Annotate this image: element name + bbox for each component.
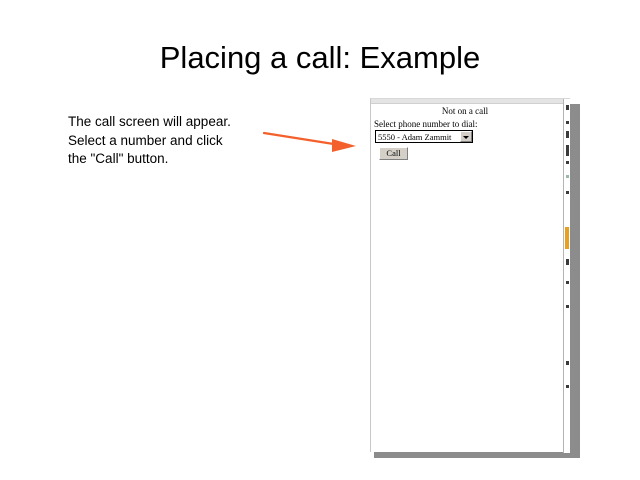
body-text-block: The call screen will appear. Select a nu…	[68, 113, 268, 169]
call-button[interactable]: Call	[379, 147, 408, 160]
slide-canvas: Placing a call: Example The call screen …	[0, 0, 640, 480]
strip-artifact	[566, 161, 569, 164]
strip-accent-artifact	[565, 227, 569, 249]
phone-number-select-value: 5550 - Adam Zammit	[378, 132, 451, 142]
strip-artifact	[566, 131, 569, 138]
window-right-edge-strip	[563, 99, 570, 453]
annotation-arrow	[258, 122, 362, 156]
strip-artifact	[566, 105, 569, 110]
body-text-line: Select a number and click	[68, 132, 268, 151]
strip-artifact	[566, 191, 569, 194]
phone-number-label: Select phone number to dial:	[374, 119, 477, 129]
page-title: Placing a call: Example	[0, 40, 640, 76]
body-text-line: The call screen will appear.	[68, 113, 268, 132]
body-text-line: the "Call" button.	[68, 150, 268, 169]
arrow-icon	[258, 122, 362, 156]
strip-artifact	[566, 385, 569, 388]
strip-artifact	[566, 121, 569, 124]
strip-artifact	[566, 175, 569, 178]
strip-artifact	[566, 281, 569, 284]
call-status-text: Not on a call	[371, 106, 559, 116]
window-top-band	[371, 99, 570, 104]
screenshot-shadow-right	[570, 104, 580, 458]
strip-artifact	[566, 259, 569, 265]
strip-artifact	[566, 145, 569, 156]
chevron-down-icon	[463, 136, 469, 139]
strip-artifact	[566, 305, 569, 308]
phone-number-select[interactable]: 5550 - Adam Zammit	[375, 130, 473, 143]
strip-artifact	[566, 361, 569, 365]
select-dropdown-button[interactable]	[460, 131, 472, 142]
app-screenshot: Not on a call Select phone number to dia…	[370, 98, 570, 452]
